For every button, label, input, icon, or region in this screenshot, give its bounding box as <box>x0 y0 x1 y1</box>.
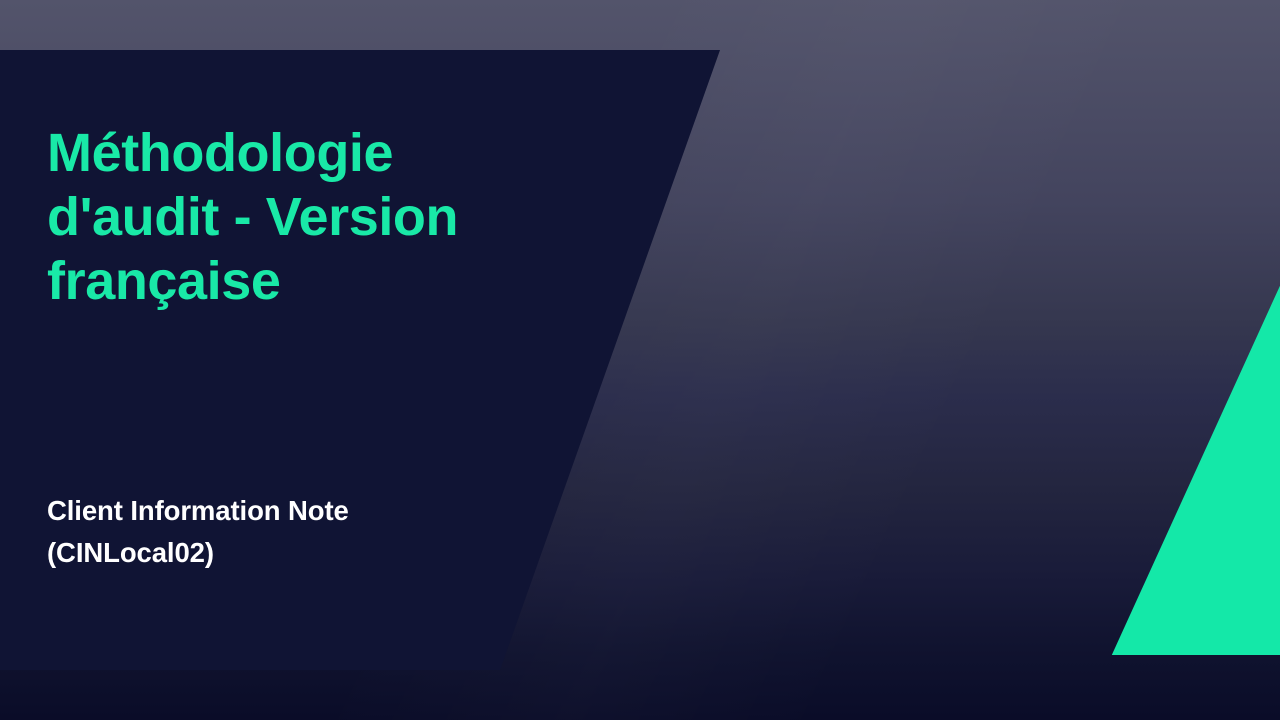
title-slide: Méthodologie d'audit - Version française… <box>0 0 1280 720</box>
slide-subtitle: Client Information Note (CINLocal02) <box>47 490 487 574</box>
slide-title: Méthodologie d'audit - Version française <box>47 121 517 313</box>
slide-text-block: Méthodologie d'audit - Version française… <box>47 50 547 670</box>
